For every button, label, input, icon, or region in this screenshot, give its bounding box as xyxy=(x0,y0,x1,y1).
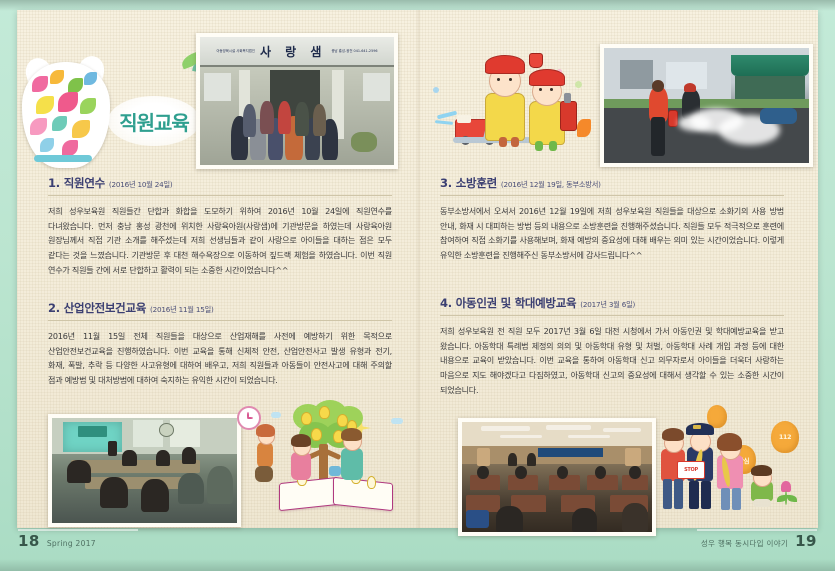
footer-left: 18 Spring 2017 xyxy=(18,532,96,550)
section-3-title: 소방훈련 xyxy=(456,175,497,191)
fire-alarm-icon xyxy=(529,53,543,68)
flame-icon xyxy=(577,119,591,137)
section-2-title: 산업안전보건교육 xyxy=(64,300,146,316)
section-3-body: 동부소방서에서 오셔서 2016년 12월 19일에 저희 성우보육원 직원들을… xyxy=(440,204,784,263)
magazine-spread: 직원교육 아동양육시설 사회복지법인 사 랑 샘 충남 홍성-광천 041-64… xyxy=(0,0,835,571)
stop-sign-icon: STOP xyxy=(677,461,705,479)
section-1-heading: 1. 직원연수 (2016년 10월 24일) xyxy=(48,175,392,191)
section-4-rule xyxy=(440,315,784,316)
section-1: 1. 직원연수 (2016년 10월 24일) 저희 성우보육원 직원들간 단합… xyxy=(48,175,392,278)
section-1-date: (2016년 10월 24일) xyxy=(109,180,173,190)
section-2-rule xyxy=(48,320,392,321)
stop-sign-label: STOP xyxy=(684,467,698,473)
footer-label-left: Spring 2017 xyxy=(47,539,96,548)
section-3-heading: 3. 소방훈련 (2016년 12월 19일, 동부소방서) xyxy=(440,175,784,191)
balloon-112: 112 xyxy=(771,421,799,453)
firefighter-kids-illustration xyxy=(425,45,595,160)
footer-right: 성우 행복 동시다입 이야기 19 xyxy=(701,532,817,550)
sign-main-text: 사 랑 샘 xyxy=(260,43,326,60)
footer-label-right: 성우 행복 동시다입 이야기 xyxy=(701,538,788,549)
sign-left-text: 아동양육시설 사회복지법인 xyxy=(216,49,255,53)
section-3: 3. 소방훈련 (2016년 12월 19일, 동부소방서) 동부소방서에서 오… xyxy=(440,175,784,263)
bottom-shadow xyxy=(0,559,835,571)
top-shadow xyxy=(0,0,835,11)
section-2-number: 2. xyxy=(48,301,60,315)
section-1-body: 저희 성우보육원 직원들간 단합과 화합을 도모하기 위하여 2016년 10월… xyxy=(48,204,392,278)
footer-rule-right xyxy=(697,529,817,531)
section-3-number: 3. xyxy=(440,176,452,190)
photo-group-visit: 아동양육시설 사회복지법인 사 랑 샘 충남 홍성-광천 041-641-259… xyxy=(196,33,398,169)
section-2-body: 2016년 11월 15일 전체 직원들을 대상으로 산업재해를 사전에 예방하… xyxy=(48,329,392,388)
section-4-title: 아동인권 및 학대예방교육 xyxy=(456,295,577,311)
section-3-date: (2016년 12월 19일, 동부소방서) xyxy=(501,180,601,190)
idea-tree-book-illustration xyxy=(255,400,425,535)
page-number-right: 19 xyxy=(795,532,817,550)
section-1-rule xyxy=(48,195,392,196)
section-4-heading: 4. 아동인권 및 학대예방교육 (2017년 3월 6일) xyxy=(440,295,784,311)
fire-extinguisher-icon xyxy=(560,101,577,131)
page-title-badge: 직원교육 xyxy=(108,96,200,146)
facility-signboard: 아동양육시설 사회복지법인 사 랑 샘 충남 홍성-광천 041-641-259… xyxy=(200,37,394,67)
footer-rule-left xyxy=(18,529,138,531)
photo-child-rights-lecture xyxy=(458,418,656,536)
section-4: 4. 아동인권 및 학대예방교육 (2017년 3월 6일) 저희 성우보육원 … xyxy=(440,295,784,398)
sign-right-text: 충남 홍성-광천 041-641-2596 xyxy=(331,49,377,53)
section-2-heading: 2. 산업안전보건교육 (2016년 11월 15일) xyxy=(48,300,392,316)
photo-fire-training xyxy=(600,44,813,167)
page-number-left: 18 xyxy=(18,532,40,550)
section-4-number: 4. xyxy=(440,296,452,310)
balloon-112-label: 112 xyxy=(779,433,791,441)
section-2-date: (2016년 11월 15일) xyxy=(150,305,214,315)
section-1-title: 직원연수 xyxy=(64,175,105,191)
section-4-body: 저희 성우보육원 전 직원 모두 2017년 3월 6일 대전 시청에서 가서 … xyxy=(440,324,784,398)
section-3-rule xyxy=(440,195,784,196)
page-title: 직원교육 xyxy=(119,107,189,136)
photo-safety-seminar xyxy=(48,414,241,527)
section-2: 2. 산업안전보건교육 (2016년 11월 15일) 2016년 11월 15… xyxy=(48,300,392,388)
section-1-number: 1. xyxy=(48,176,60,190)
section-4-date: (2017년 3월 6일) xyxy=(580,300,635,310)
flower-cat-sticker xyxy=(22,62,110,168)
safety-family-illustration: 112 관심 STOP xyxy=(655,415,820,533)
